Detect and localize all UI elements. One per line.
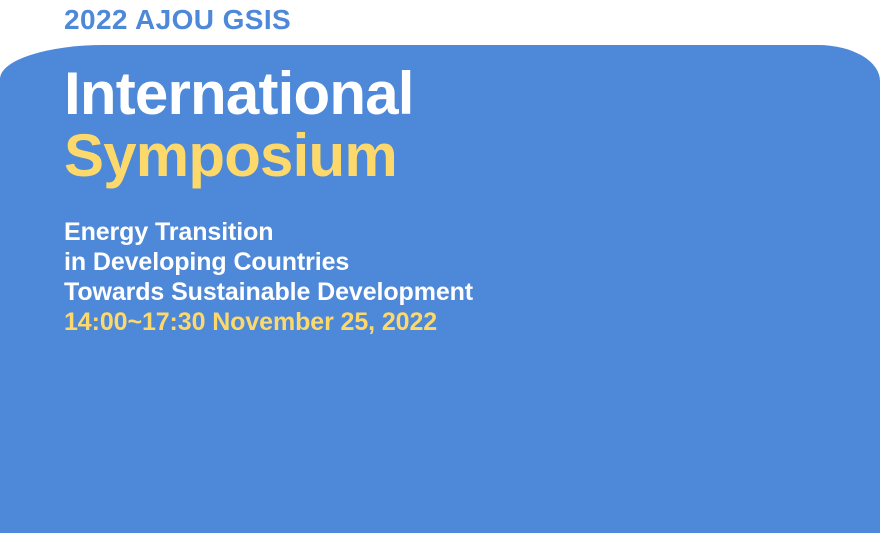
symposium-poster: 2022 AJOU GSIS International Symposium E… [0,0,880,533]
event-eyebrow-label: 2022 AJOU GSIS [64,2,291,38]
subtitle-line-3: Towards Sustainable Development [64,277,473,307]
subtitle-line-1: Energy Transition [64,217,473,247]
blue-content-panel: International Symposium Energy Transitio… [0,45,880,533]
headline-line-primary: International [64,63,414,125]
headline-line-accent: Symposium [64,125,414,187]
subtitle-line-2: in Developing Countries [64,247,473,277]
subtitle-block: Energy Transition in Developing Countrie… [64,217,473,337]
headline-block: International Symposium [64,63,414,187]
event-schedule-label: 14:00~17:30 November 25, 2022 [64,307,473,337]
